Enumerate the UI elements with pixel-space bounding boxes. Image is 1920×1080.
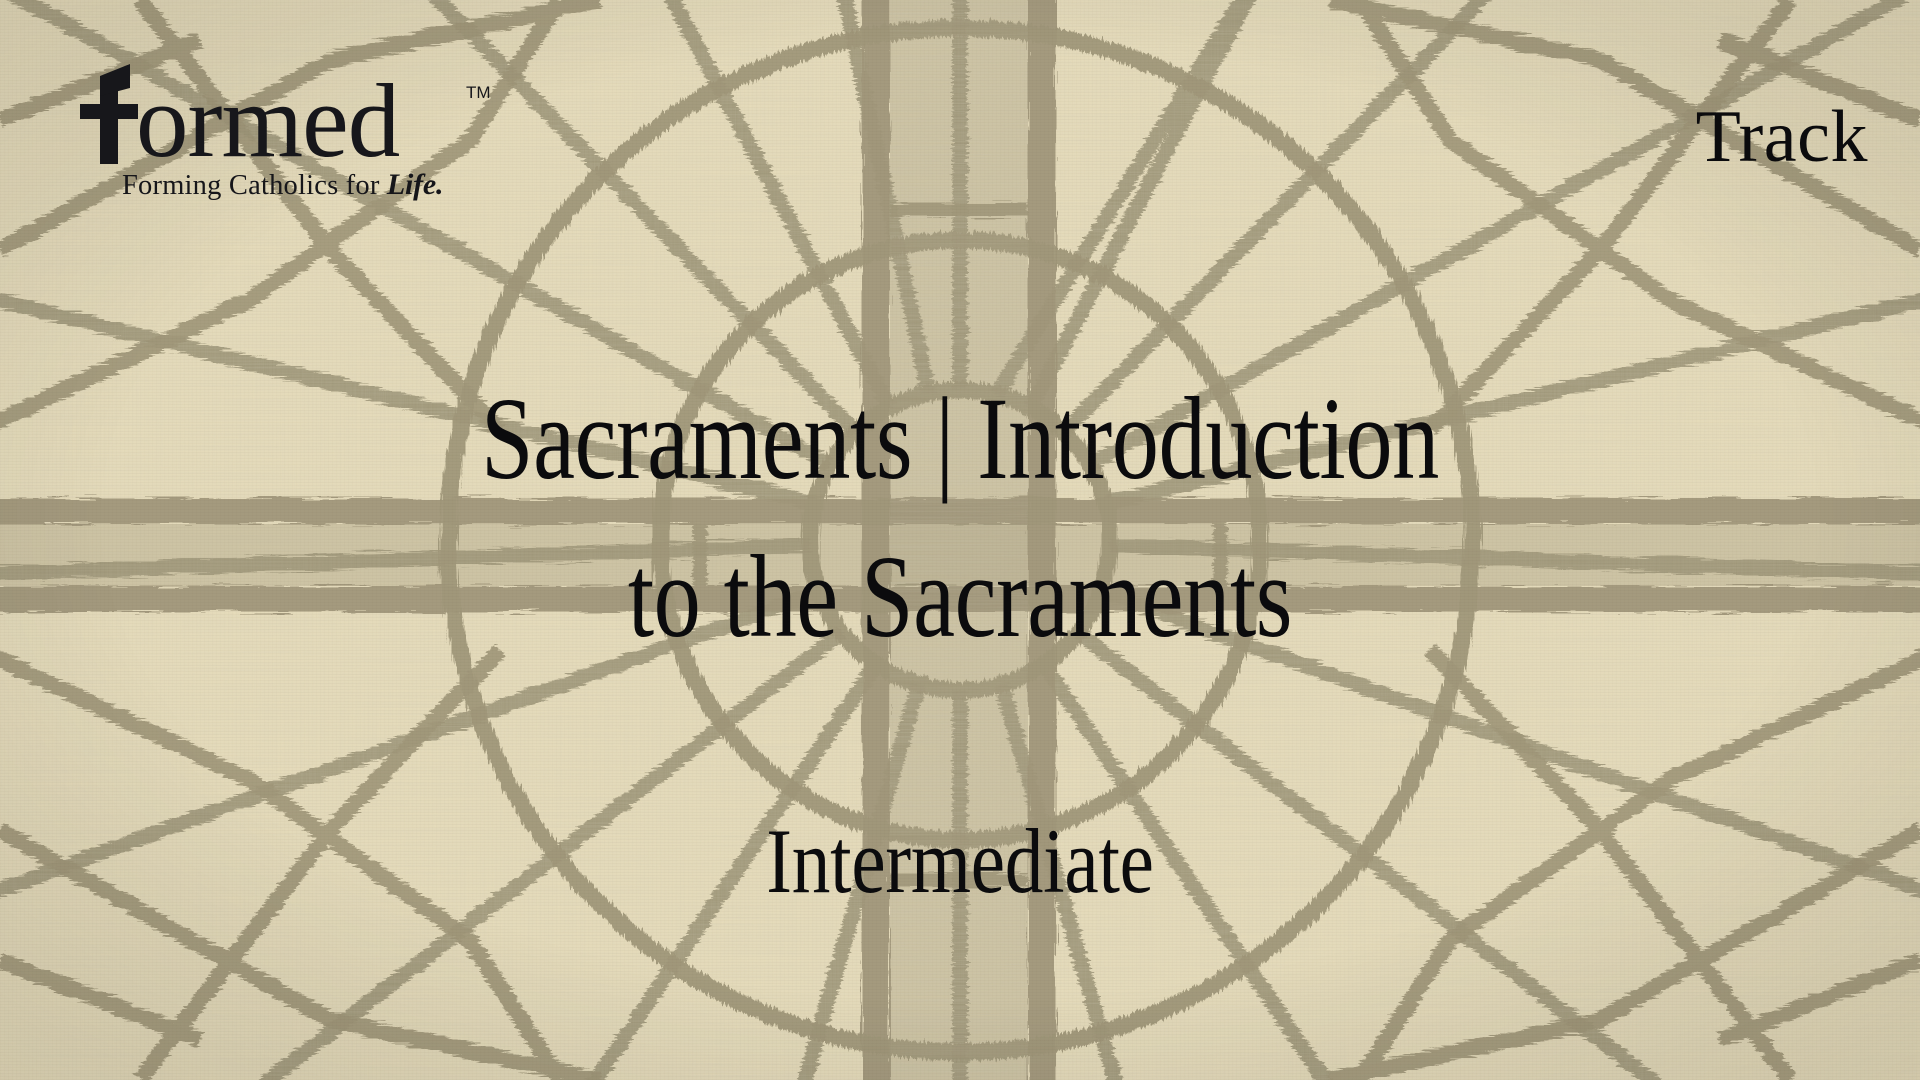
title-slide: ormed TM Forming Catholics for Life. Tra… — [0, 0, 1920, 1080]
track-label: Track — [1696, 100, 1868, 174]
trademark-symbol: TM — [466, 83, 491, 102]
formed-wordmark: ormed TM — [78, 62, 498, 166]
page-title: Sacraments | Introduction to the Sacrame… — [192, 360, 1728, 676]
tagline-emphasis: Life. — [387, 168, 443, 201]
formed-cross-f-logo-icon: ormed TM — [78, 62, 498, 166]
formed-tagline: Forming Catholics for Life. — [78, 168, 518, 202]
level-subtitle: Intermediate — [154, 815, 1767, 907]
svg-text:ormed: ormed — [136, 62, 400, 166]
formed-logo[interactable]: ormed TM Forming Catholics for Life. — [78, 62, 518, 202]
tagline-prefix: Forming Catholics for — [122, 170, 387, 201]
